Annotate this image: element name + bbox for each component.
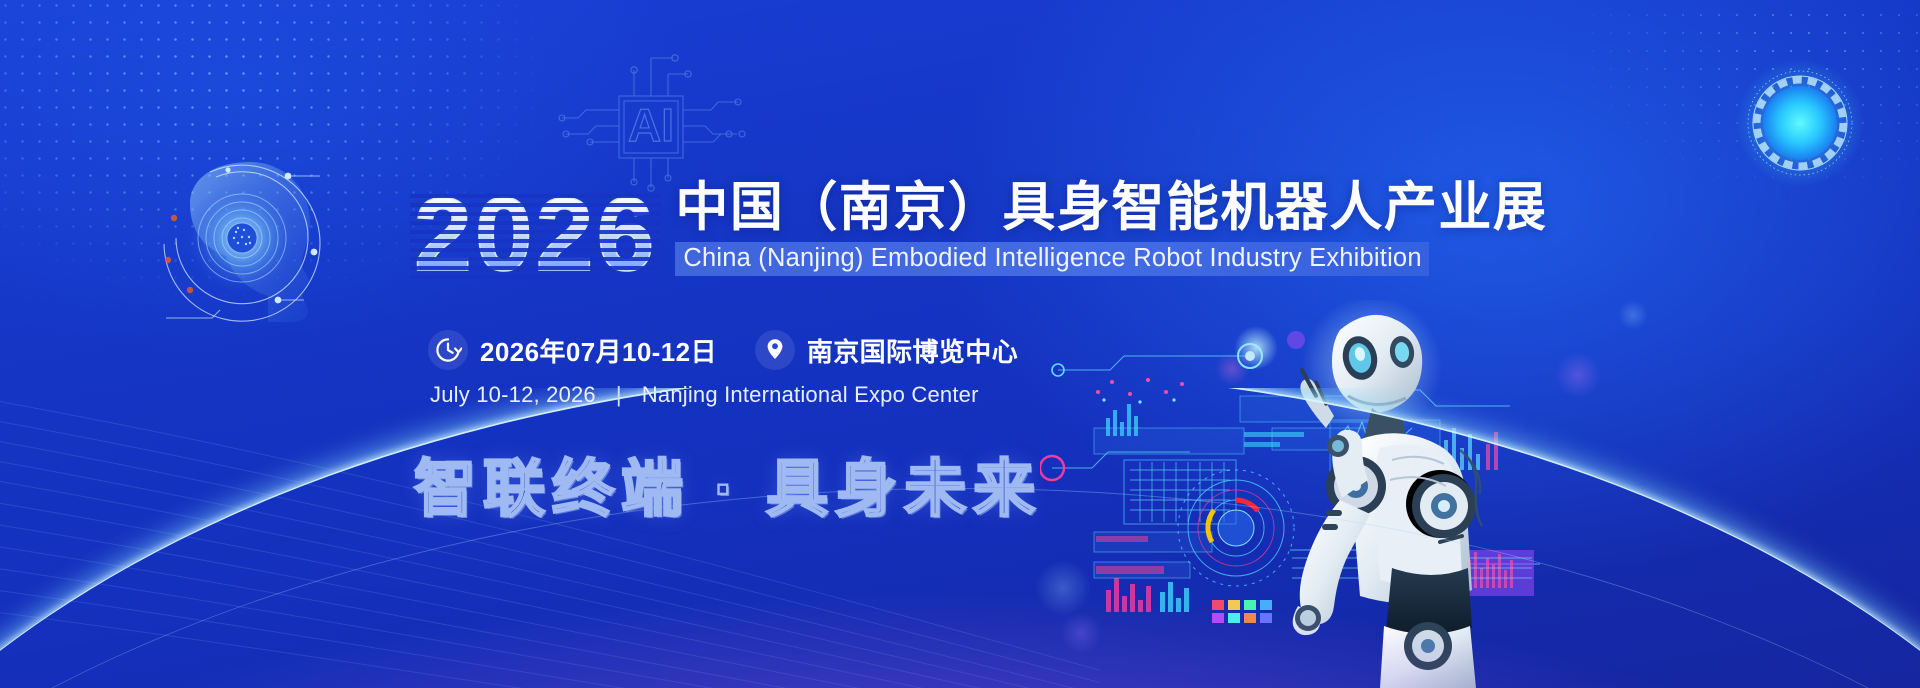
event-venue-item: 南京国际博览中心: [755, 330, 1018, 370]
event-date-en: July 10-12, 2026: [430, 382, 596, 408]
year-text: 2026: [414, 191, 657, 280]
banner-content: 2026 2026 中国（南京）具身智能机器人产业展 China (Nanjin…: [0, 0, 1920, 688]
event-info-en-row: July 10-12, 2026 | Nanjing International…: [430, 382, 979, 408]
info-separator: |: [616, 382, 622, 408]
title-text-block: 中国（南京）具身智能机器人产业展 China (Nanjing) Embodie…: [675, 178, 1547, 280]
event-date-item: 2026年07月10-12日: [428, 330, 717, 370]
event-slogan: 智联终端 · 具身未来: [414, 438, 1042, 528]
page-title: 中国（南京）具身智能机器人产业展: [675, 178, 1547, 237]
subtitle-bar: China (Nanjing) Embodied Intelligence Ro…: [675, 242, 1428, 276]
clock-icon: [428, 330, 468, 370]
event-venue-cn: 南京国际博览中心: [807, 332, 1018, 369]
location-pin-icon: [755, 330, 795, 370]
page-subtitle: China (Nanjing) Embodied Intelligence Ro…: [683, 244, 1421, 272]
year-logo: 2026 2026: [414, 191, 657, 280]
exhibition-banner: AI: [0, 0, 1920, 688]
event-info-row: 2026年07月10-12日 南京国际博览中心: [428, 330, 1018, 370]
title-row: 2026 2026 中国（南京）具身智能机器人产业展 China (Nanjin…: [414, 178, 1547, 280]
event-date-cn: 2026年07月10-12日: [480, 332, 717, 369]
event-venue-en: Nanjing International Expo Center: [642, 382, 979, 408]
